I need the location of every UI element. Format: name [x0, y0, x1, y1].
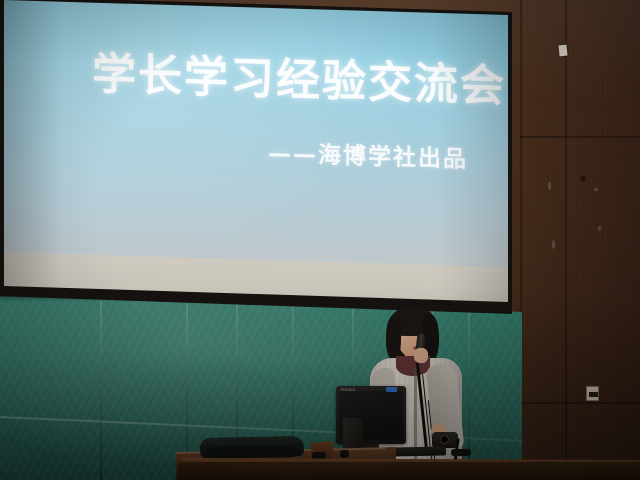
wood-seam-vertical-1: [565, 0, 567, 480]
wood-seam-horizontal-1: [520, 136, 640, 138]
keyboard[interactable]: [390, 447, 446, 457]
presenter-hand-holding-mic: [414, 348, 428, 363]
slide-subtitle: ——海博学社出品: [268, 134, 468, 174]
monitor-sticker: [386, 387, 397, 392]
desk-object-1: [312, 452, 326, 459]
wall-blemish-2: [594, 188, 598, 191]
wall-blemish-5: [598, 226, 601, 231]
bag-lower-roll: [206, 445, 298, 459]
presenter-hair-side-left: [386, 316, 401, 360]
desk-object-3: [451, 449, 471, 456]
projection-screen[interactable]: 学长学习经验交流会 ——海博学社出品: [0, 0, 512, 305]
computer-tower[interactable]: [343, 418, 363, 450]
slide-text-layer: 学长学习经验交流会 ——海博学社出品: [0, 0, 512, 305]
lecture-hall-photo: 学长学习经验交流会 ——海博学社出品 lenovo: [0, 0, 640, 480]
desk-object-2: [340, 450, 349, 458]
wall-socket[interactable]: [586, 386, 599, 401]
wall-blemish-1: [580, 176, 586, 181]
tile-seam-1: [100, 288, 102, 480]
wall-blemish-3: [548, 182, 551, 190]
monitor-brand-logo: lenovo: [341, 387, 355, 392]
wood-seam-horizontal-2: [520, 402, 640, 404]
slide-title: 学长学习经验交流会: [92, 51, 506, 111]
wall-sticker: [558, 45, 567, 57]
camera-lens-icon: [440, 435, 449, 444]
wall-blemish-4: [552, 240, 555, 249]
